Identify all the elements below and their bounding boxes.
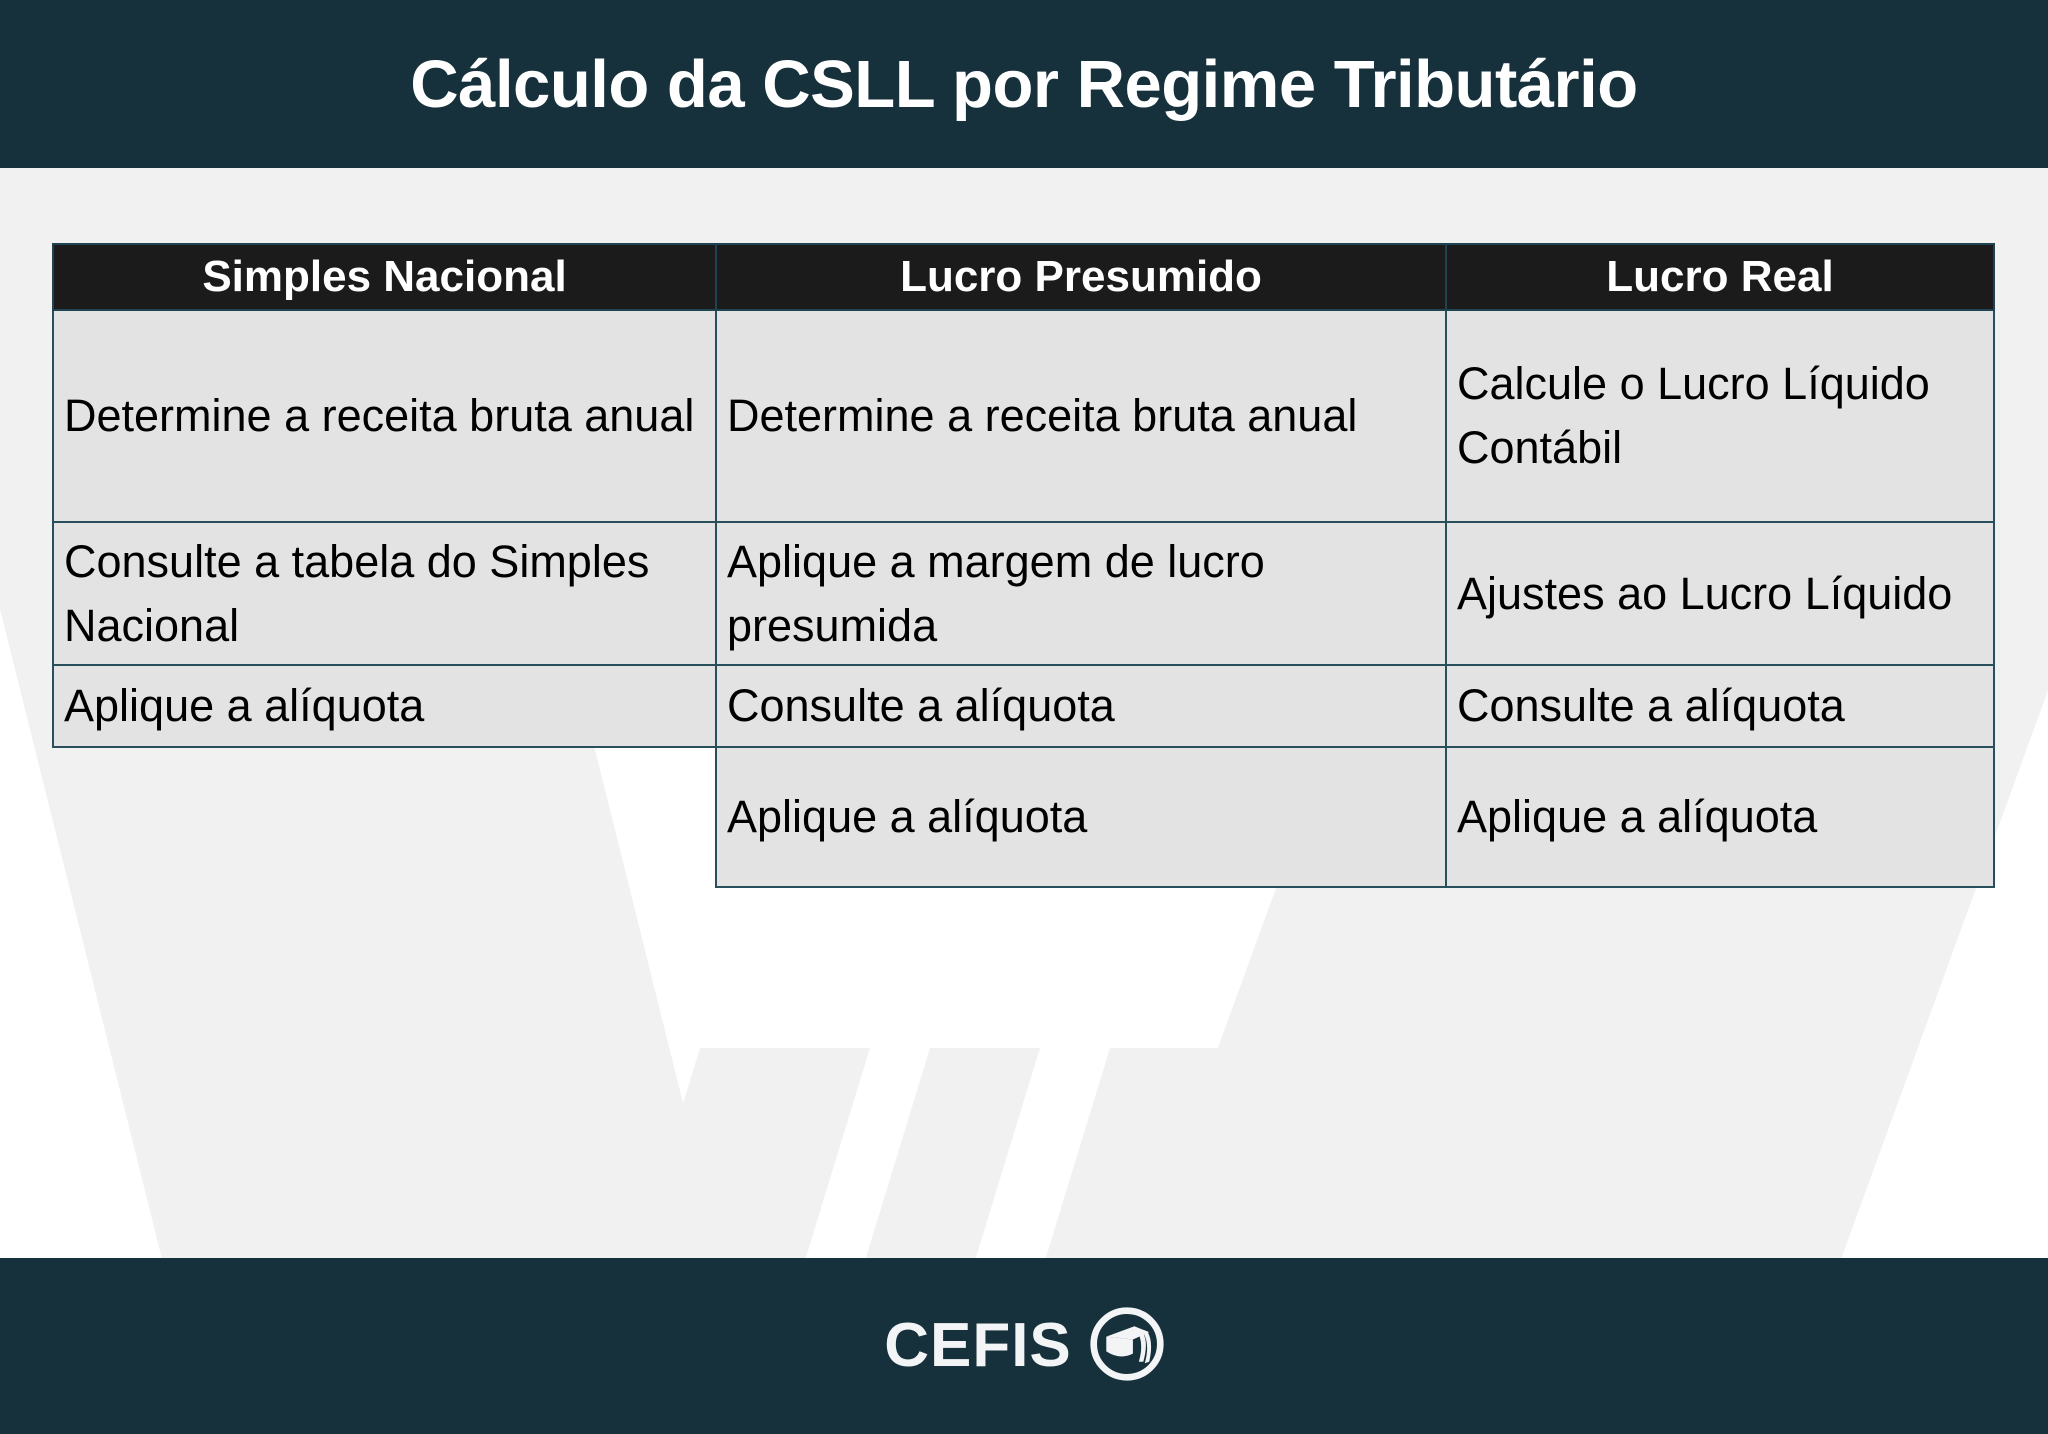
comparison-table-container: Simples Nacional Lucro Presumido Lucro R… <box>52 243 1993 888</box>
cell-presumido-step-1: Determine a receita bruta anual <box>716 310 1446 522</box>
brand-name: CEFIS <box>884 1315 1072 1377</box>
table-row: Aplique a alíquota Consulte a alíquota C… <box>53 665 1994 747</box>
column-header-lucro-presumido: Lucro Presumido <box>716 244 1446 310</box>
column-header-simples-nacional: Simples Nacional <box>53 244 716 310</box>
csll-regime-table: Simples Nacional Lucro Presumido Lucro R… <box>52 243 1995 888</box>
table-row: Determine a receita bruta anual Determin… <box>53 310 1994 522</box>
cell-presumido-step-4: Aplique a alíquota <box>716 747 1446 887</box>
background-ribbon-stripe-2 <box>802 1048 1040 1258</box>
cell-simples-step-4-empty <box>53 747 716 887</box>
cell-presumido-step-3: Consulte a alíquota <box>716 665 1446 747</box>
background-ribbon-stripe-1 <box>572 1048 870 1258</box>
table-header-row: Simples Nacional Lucro Presumido Lucro R… <box>53 244 1994 310</box>
cell-real-step-1: Calcule o Lucro Líquido Contábil <box>1446 310 1994 522</box>
cefis-book-circle-icon <box>1090 1307 1164 1386</box>
footer-bar: CEFIS <box>0 1258 2048 1434</box>
cell-real-step-4: Aplique a alíquota <box>1446 747 1994 887</box>
table-body: Determine a receita bruta anual Determin… <box>53 310 1994 887</box>
header-bar: Cálculo da CSLL por Regime Tributário <box>0 0 2048 168</box>
page-title: Cálculo da CSLL por Regime Tributário <box>410 51 1637 118</box>
background-ribbon-stripe-3 <box>982 1048 1410 1258</box>
table-row: Consulte a tabela do Simples Nacional Ap… <box>53 522 1994 665</box>
cell-simples-step-3: Aplique a alíquota <box>53 665 716 747</box>
cell-simples-step-2: Consulte a tabela do Simples Nacional <box>53 522 716 665</box>
slide-canvas: Cálculo da CSLL por Regime Tributário Si… <box>0 0 2048 1434</box>
cell-simples-step-1: Determine a receita bruta anual <box>53 310 716 522</box>
table-header: Simples Nacional Lucro Presumido Lucro R… <box>53 244 1994 310</box>
cell-presumido-step-2: Aplique a margem de lucro presumida <box>716 522 1446 665</box>
cell-real-step-2: Ajustes ao Lucro Líquido <box>1446 522 1994 665</box>
column-header-lucro-real: Lucro Real <box>1446 244 1994 310</box>
table-row: Aplique a alíquota Aplique a alíquota <box>53 747 1994 887</box>
cell-real-step-3: Consulte a alíquota <box>1446 665 1994 747</box>
